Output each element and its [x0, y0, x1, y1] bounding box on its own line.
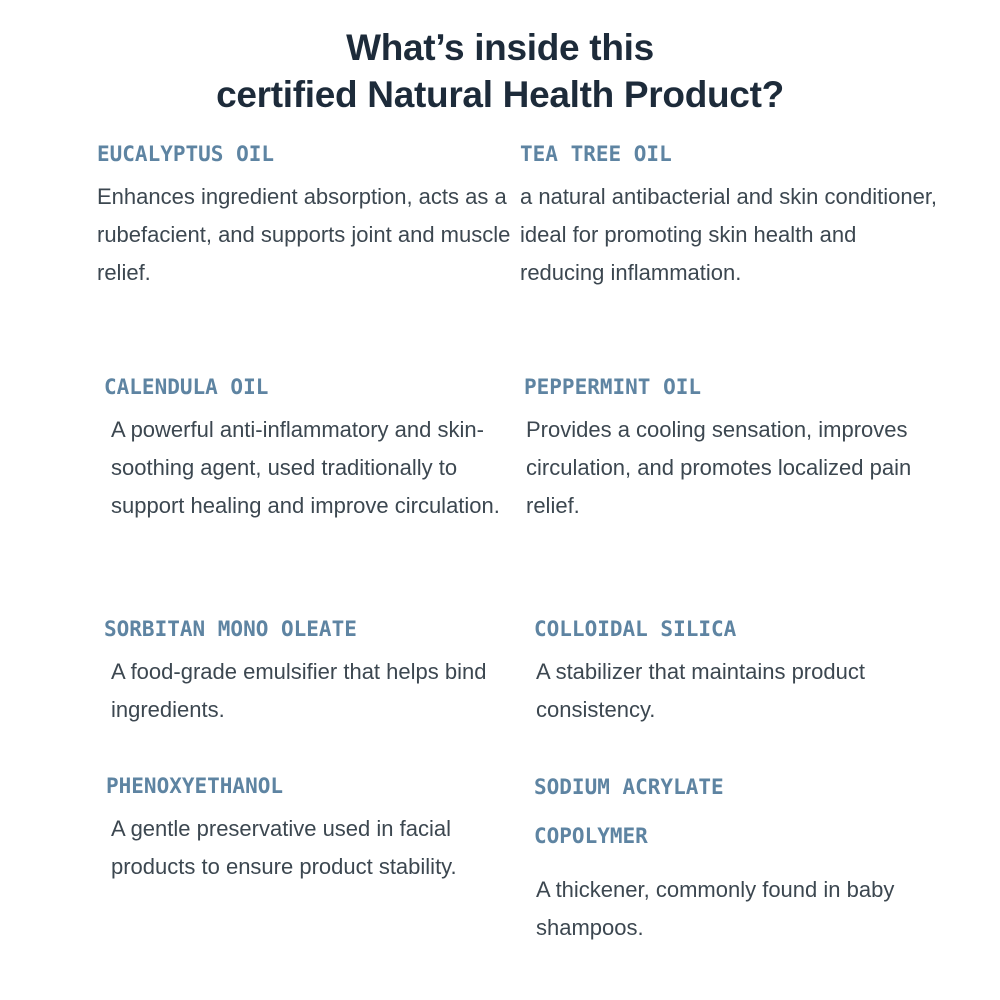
ingredient-item-colloidal-silica: COLLOIDAL SILICA A stabilizer that maint… [520, 606, 950, 729]
ingredient-item-peppermint-oil: PEPPERMINT OIL Provides a cooling sensat… [520, 364, 950, 525]
ingredient-name-phenoxyethanol: PHENOXYETHANOL [97, 763, 527, 810]
ingredient-panel: What’s inside this certified Natural Hea… [0, 0, 1000, 1000]
ingredient-item-phenoxyethanol: PHENOXYETHANOL A gentle preservative use… [97, 763, 527, 886]
ingredient-grid: EUCALYPTUS OIL Enhances ingredient absor… [0, 131, 1000, 991]
ingredient-item-sodium-acrylate-copolymer: SODIUM ACRYLATE COPOLYMER A thickener, c… [520, 763, 950, 947]
ingredient-item-eucalyptus-oil: EUCALYPTUS OIL Enhances ingredient absor… [97, 131, 527, 292]
page-title-line-2: certified Natural Health Product? [0, 71, 1000, 118]
ingredient-description-colloidal-silica: A stabilizer that maintains product cons… [520, 653, 950, 729]
ingredient-description-calendula-oil: A powerful anti-inflammatory and skin-so… [97, 411, 515, 525]
page-title-line-1: What’s inside this [0, 24, 1000, 71]
ingredient-item-calendula-oil: CALENDULA OIL A powerful anti-inflammato… [97, 364, 527, 525]
ingredient-item-tea-tree-oil: TEA TREE OIL a natural antibacterial and… [520, 131, 950, 292]
ingredient-name-calendula-oil: CALENDULA OIL [97, 364, 527, 411]
ingredient-description-phenoxyethanol: A gentle preservative used in facial pro… [97, 810, 515, 886]
ingredient-name-eucalyptus-oil: EUCALYPTUS OIL [97, 131, 527, 178]
ingredient-description-tea-tree-oil: a natural antibacterial and skin conditi… [520, 178, 938, 292]
ingredient-description-sorbitan-mono-oleate: A food-grade emulsifier that helps bind … [97, 653, 515, 729]
ingredient-name-tea-tree-oil: TEA TREE OIL [520, 131, 950, 178]
ingredient-description-peppermint-oil: Provides a cooling sensation, improves c… [520, 411, 944, 525]
ingredient-item-sorbitan-mono-oleate: SORBITAN MONO OLEATE A food-grade emulsi… [97, 606, 527, 729]
ingredient-name-sorbitan-mono-oleate: SORBITAN MONO OLEATE [97, 606, 527, 653]
ingredient-description-eucalyptus-oil: Enhances ingredient absorption, acts as … [97, 178, 515, 292]
ingredient-name-sodium-acrylate-copolymer: SODIUM ACRYLATE COPOLYMER [520, 763, 834, 861]
ingredient-name-peppermint-oil: PEPPERMINT OIL [520, 364, 950, 411]
page-title: What’s inside this certified Natural Hea… [0, 24, 1000, 118]
ingredient-name-colloidal-silica: COLLOIDAL SILICA [520, 606, 950, 653]
ingredient-description-sodium-acrylate-copolymer: A thickener, commonly found in baby sham… [520, 871, 950, 947]
